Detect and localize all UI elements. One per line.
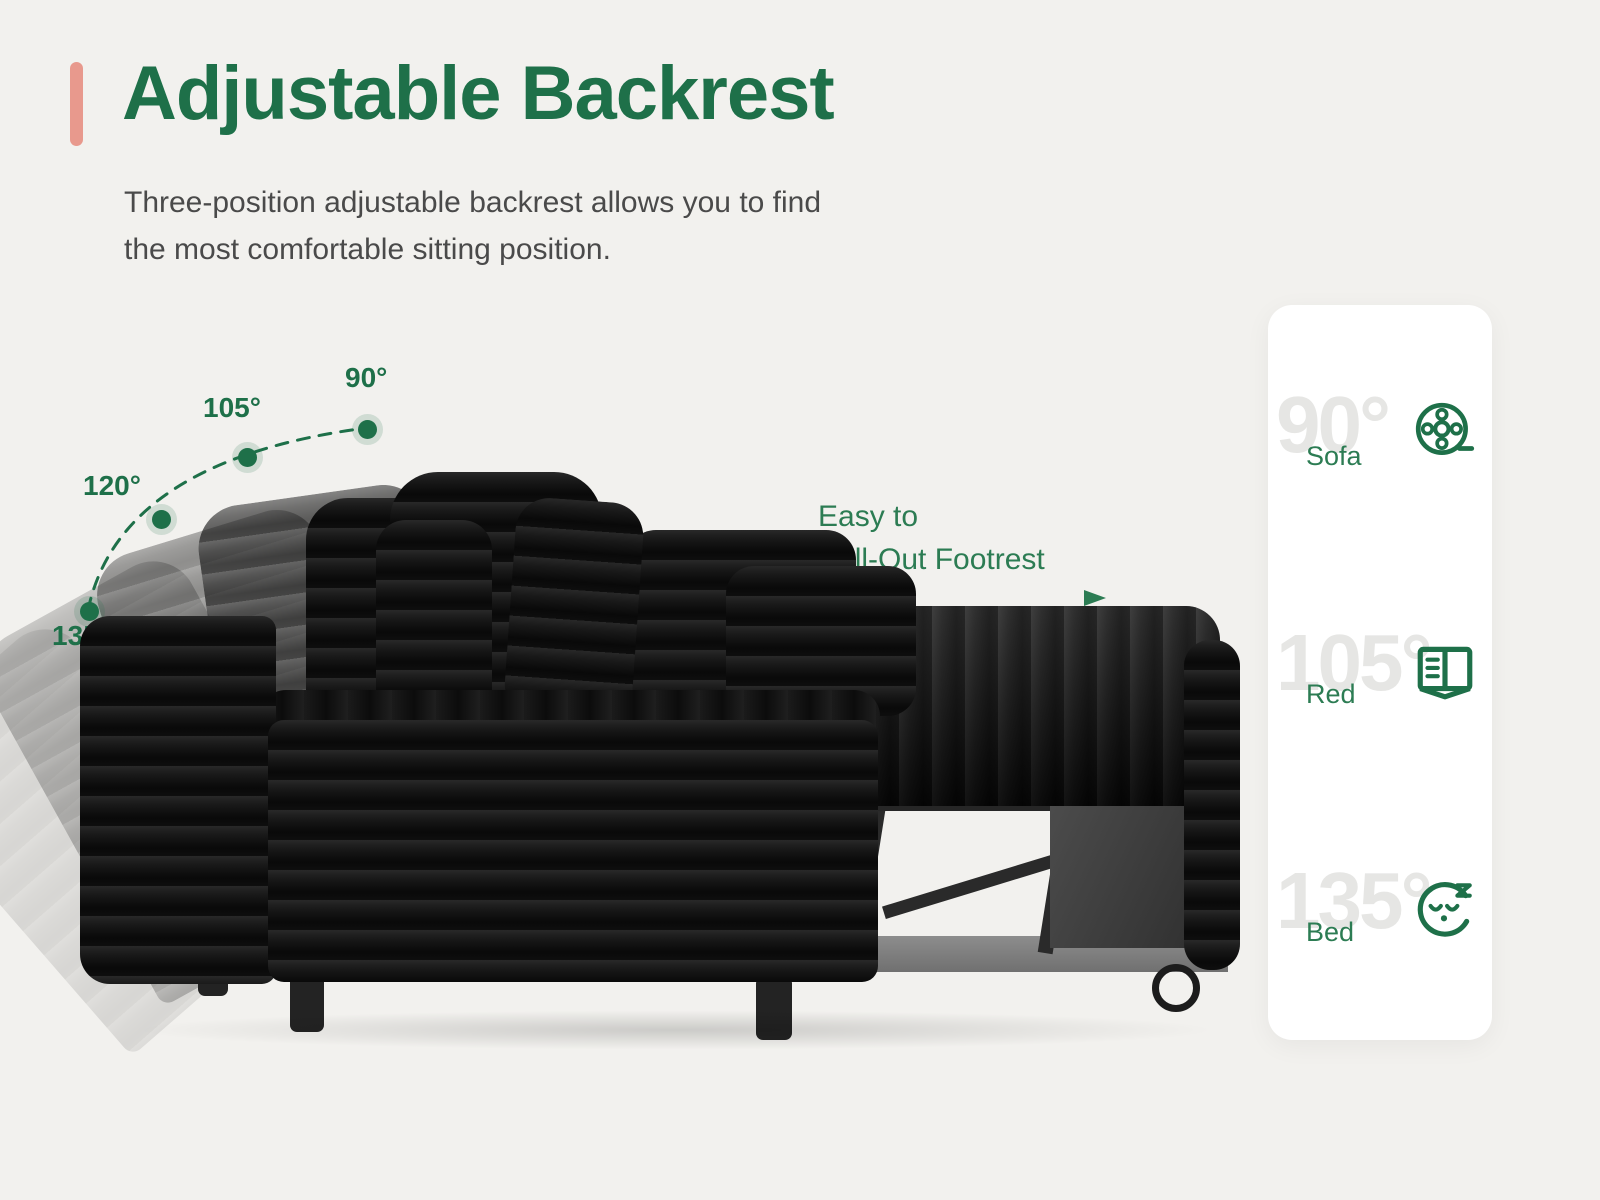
mode-name-sofa: Sofa [1306,441,1362,472]
angle-dot-120[interactable] [152,510,171,529]
mode-row-read[interactable]: 105° Red [1268,623,1492,743]
angle-label-105: 105° [203,392,261,424]
infographic-canvas: Adjustable Backrest Three-position adjus… [0,0,1600,1200]
mode-row-sofa[interactable]: 90° Sofa [1268,385,1492,505]
subtitle-line-2: the most comfortable sitting position. [124,227,1084,274]
mode-summary-card: 90° Sofa 105° Red [1268,305,1492,1040]
pullout-line-1: Easy to [818,496,1045,539]
footrest-caster-wheel [1152,964,1200,1012]
mode-name-bed: Bed [1306,917,1354,948]
mode-name-read: Red [1306,679,1356,710]
page-title: Adjustable Backrest [122,54,834,134]
sleeping-face-icon [1412,875,1478,941]
angle-dot-105[interactable] [238,448,257,467]
angle-label-120: 120° [83,470,141,502]
open-book-icon [1412,637,1478,703]
angle-dot-90[interactable] [358,420,377,439]
page-subtitle: Three-position adjustable backrest allow… [124,180,1084,273]
title-accent-bar [70,62,83,146]
film-reel-icon [1412,399,1478,465]
mode-row-bed[interactable]: 135° Bed [1268,861,1492,981]
sofa-body-front [268,720,878,982]
footrest-end-panel [1184,640,1240,970]
sofa-arm-left [80,616,276,984]
angle-label-90: 90° [345,362,387,394]
subtitle-line-1: Three-position adjustable backrest allow… [124,180,1084,227]
footrest-frame-diagonal [882,854,1058,919]
floor-shadow [130,1010,1220,1050]
